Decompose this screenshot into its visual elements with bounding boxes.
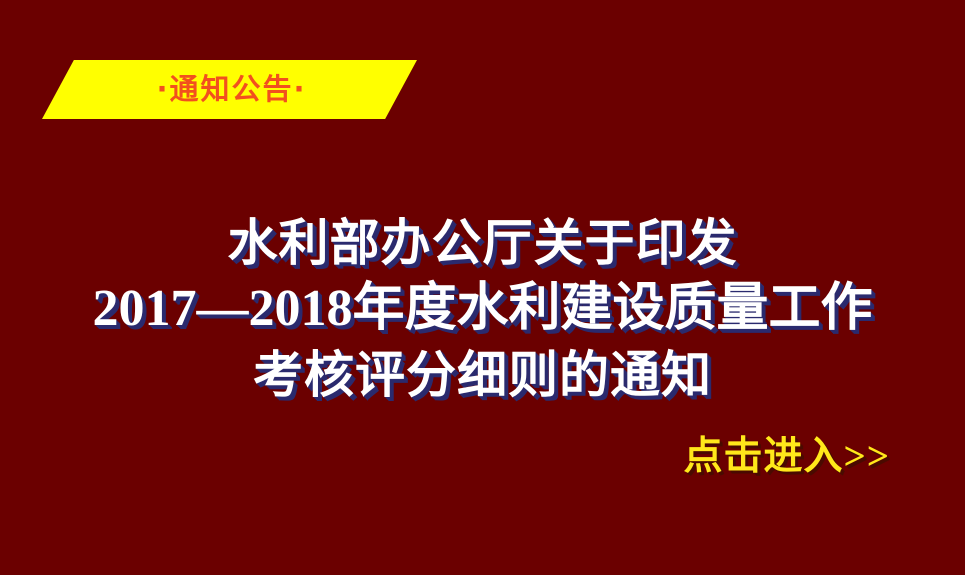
page-title: 水利部办公厅关于印发 2017—2018年度水利建设质量工作 考核评分细则的通知 [0,210,965,408]
title-line-2: 2017—2018年度水利建设质量工作 [0,276,965,342]
cta-row: 点击进入>> [0,432,965,482]
notice-banner: ·通知公告· [42,60,417,119]
title-line-3: 考核评分细则的通知 [0,342,965,408]
enter-link[interactable]: 点击进入>> [684,432,890,482]
notice-banner-label: ·通知公告· [152,75,306,104]
announcement-poster: ·通知公告· 水利部办公厅关于印发 2017—2018年度水利建设质量工作 考核… [0,0,965,575]
title-line-1: 水利部办公厅关于印发 [0,210,965,276]
